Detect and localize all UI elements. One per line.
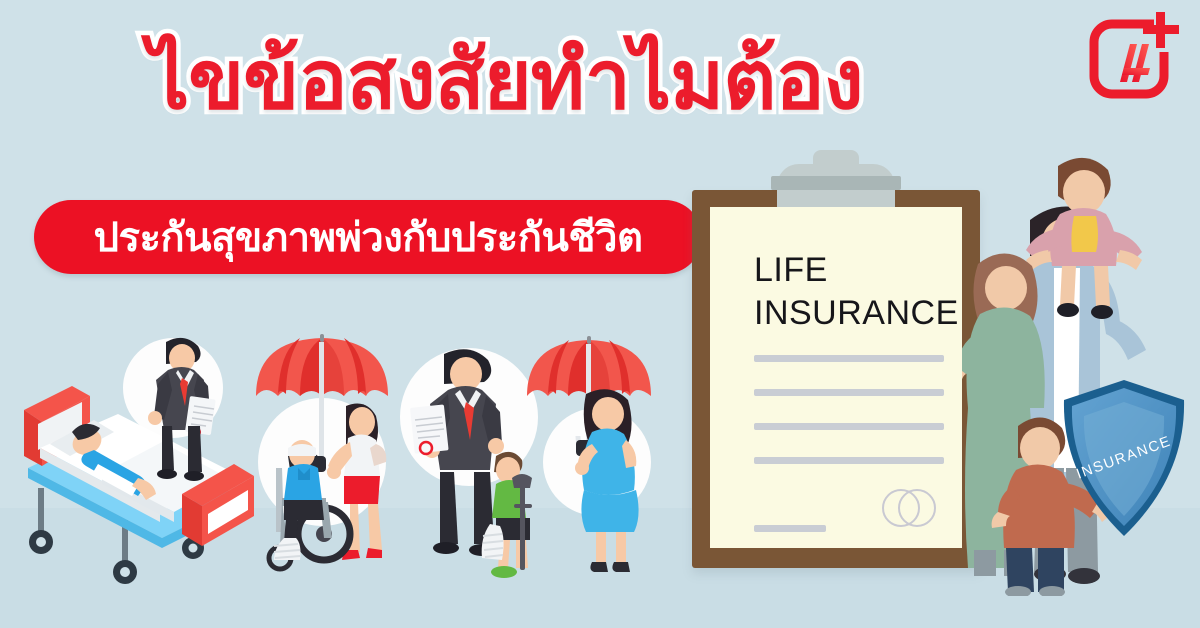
subtitle-pill: ประกันสุขภาพพ่วงกับประกันชีวิต [34,200,702,274]
insurance-shield: INSURANCE [1060,378,1188,538]
insurance-agent-clipboard [138,334,228,484]
clipboard-title: LIFE INSURANCE [754,249,959,334]
clipboard-paper: LIFE INSURANCE [710,207,962,548]
clipboard-title-line-1: LIFE [754,249,959,292]
pregnant-woman-umbrella [556,384,666,574]
subtitle-text: ประกันสุขภาพพ่วงกับประกันชีวิต [94,205,643,269]
clipboard-rule-4 [754,457,944,464]
clipboard-rule-2 [754,389,944,396]
clipboard-rule-3 [754,423,944,430]
life-insurance-clipboard: LIFE INSURANCE [692,190,980,568]
clipboard-rule-1 [754,355,944,362]
overlapping-rings-seal [882,489,936,523]
a-plus-logo[interactable] [1080,8,1182,100]
page-title: ไขข้อสงสัยทำไมต้อง [148,38,863,124]
woman-pushing-wheelchair [258,398,398,588]
clipboard-title-line-2: INSURANCE [754,292,959,335]
clipboard-clip [777,164,895,212]
insurance-banner: ไขข้อสงสัยทำไมต้อง ประกันสุขภาพพ่วงกับปร… [0,0,1200,628]
signature-line [754,525,826,532]
